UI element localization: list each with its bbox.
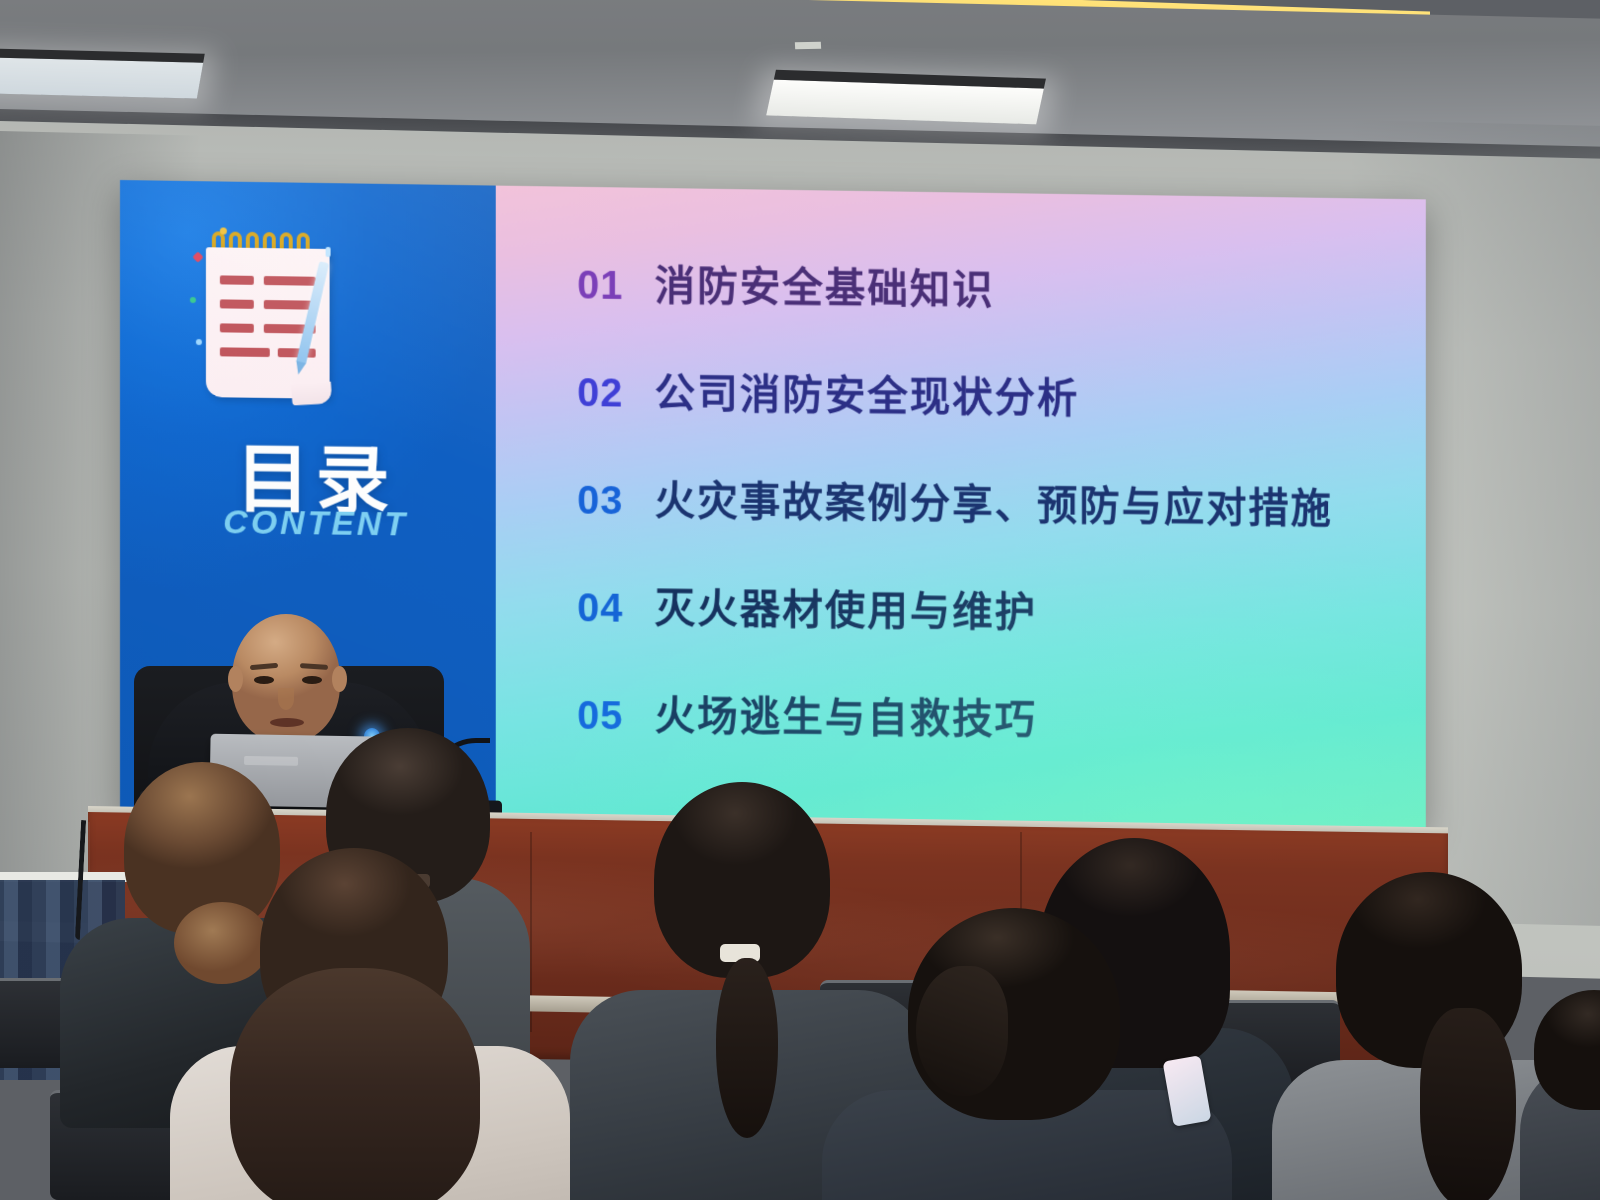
presenter-ear-left <box>228 666 243 692</box>
toc-item-04[interactable]: 04 灭火器材使用与维护 <box>577 573 1404 642</box>
toc-label: 消防安全基础知识 <box>655 252 995 316</box>
toc-number: 01 <box>577 263 654 309</box>
presentation-room-photo: 目录 CONTENT 01 消防安全基础知识 02 公司消防安全现状分析 03 <box>0 0 1600 1200</box>
notepad-rings <box>212 231 322 259</box>
notepad-checklist-icon <box>186 231 346 413</box>
toc-label: 公司消防安全现状分析 <box>655 359 1080 424</box>
attendee-8 <box>1520 1000 1600 1200</box>
presenter-ear-right <box>332 666 347 692</box>
toc-label: 火灾事故案例分享、预防与应对措施 <box>655 467 1333 535</box>
toc-item-02[interactable]: 02 公司消防安全现状分析 <box>577 358 1404 429</box>
slide-right-panel: 01 消防安全基础知识 02 公司消防安全现状分析 03 火灾事故案例分享、预防… <box>496 186 1426 833</box>
ceiling-light-left-icon <box>0 57 203 98</box>
presenter-eye-left <box>254 676 274 684</box>
toc-label: 火场逃生与自救技巧 <box>655 682 1037 746</box>
toc-number: 03 <box>577 479 654 525</box>
toc-item-03[interactable]: 03 火灾事故案例分享、预防与应对措施 <box>577 466 1404 536</box>
toc-label: 灭火器材使用与维护 <box>655 574 1037 638</box>
notepad-paper <box>206 247 330 399</box>
ceiling-vent-icon <box>795 42 821 49</box>
attendee-ponytail <box>716 958 778 1138</box>
slide-left-title-en: CONTENT <box>166 503 465 546</box>
attendee-3 <box>212 848 512 1200</box>
presenter-eye-right <box>302 676 322 684</box>
toc-item-05[interactable]: 05 火场逃生与自救技巧 <box>577 681 1404 749</box>
attendee-6 <box>880 908 1180 1200</box>
attendee-ponytail <box>916 966 1008 1096</box>
toc-number: 02 <box>577 371 654 417</box>
attendee-ponytail <box>1420 1008 1516 1200</box>
toc-item-01[interactable]: 01 消防安全基础知识 <box>577 251 1404 322</box>
slide-left-title-cn: 目录 <box>166 419 465 530</box>
pen-icon <box>296 261 329 364</box>
table-of-contents: 01 消防安全基础知识 02 公司消防安全现状分析 03 火灾事故案例分享、预防… <box>577 251 1404 797</box>
attendee-ponytail <box>230 968 480 1200</box>
toc-number: 05 <box>577 694 654 740</box>
presenter-nose <box>278 688 294 710</box>
presenter-mouth <box>270 718 304 727</box>
toc-number: 04 <box>577 586 654 632</box>
